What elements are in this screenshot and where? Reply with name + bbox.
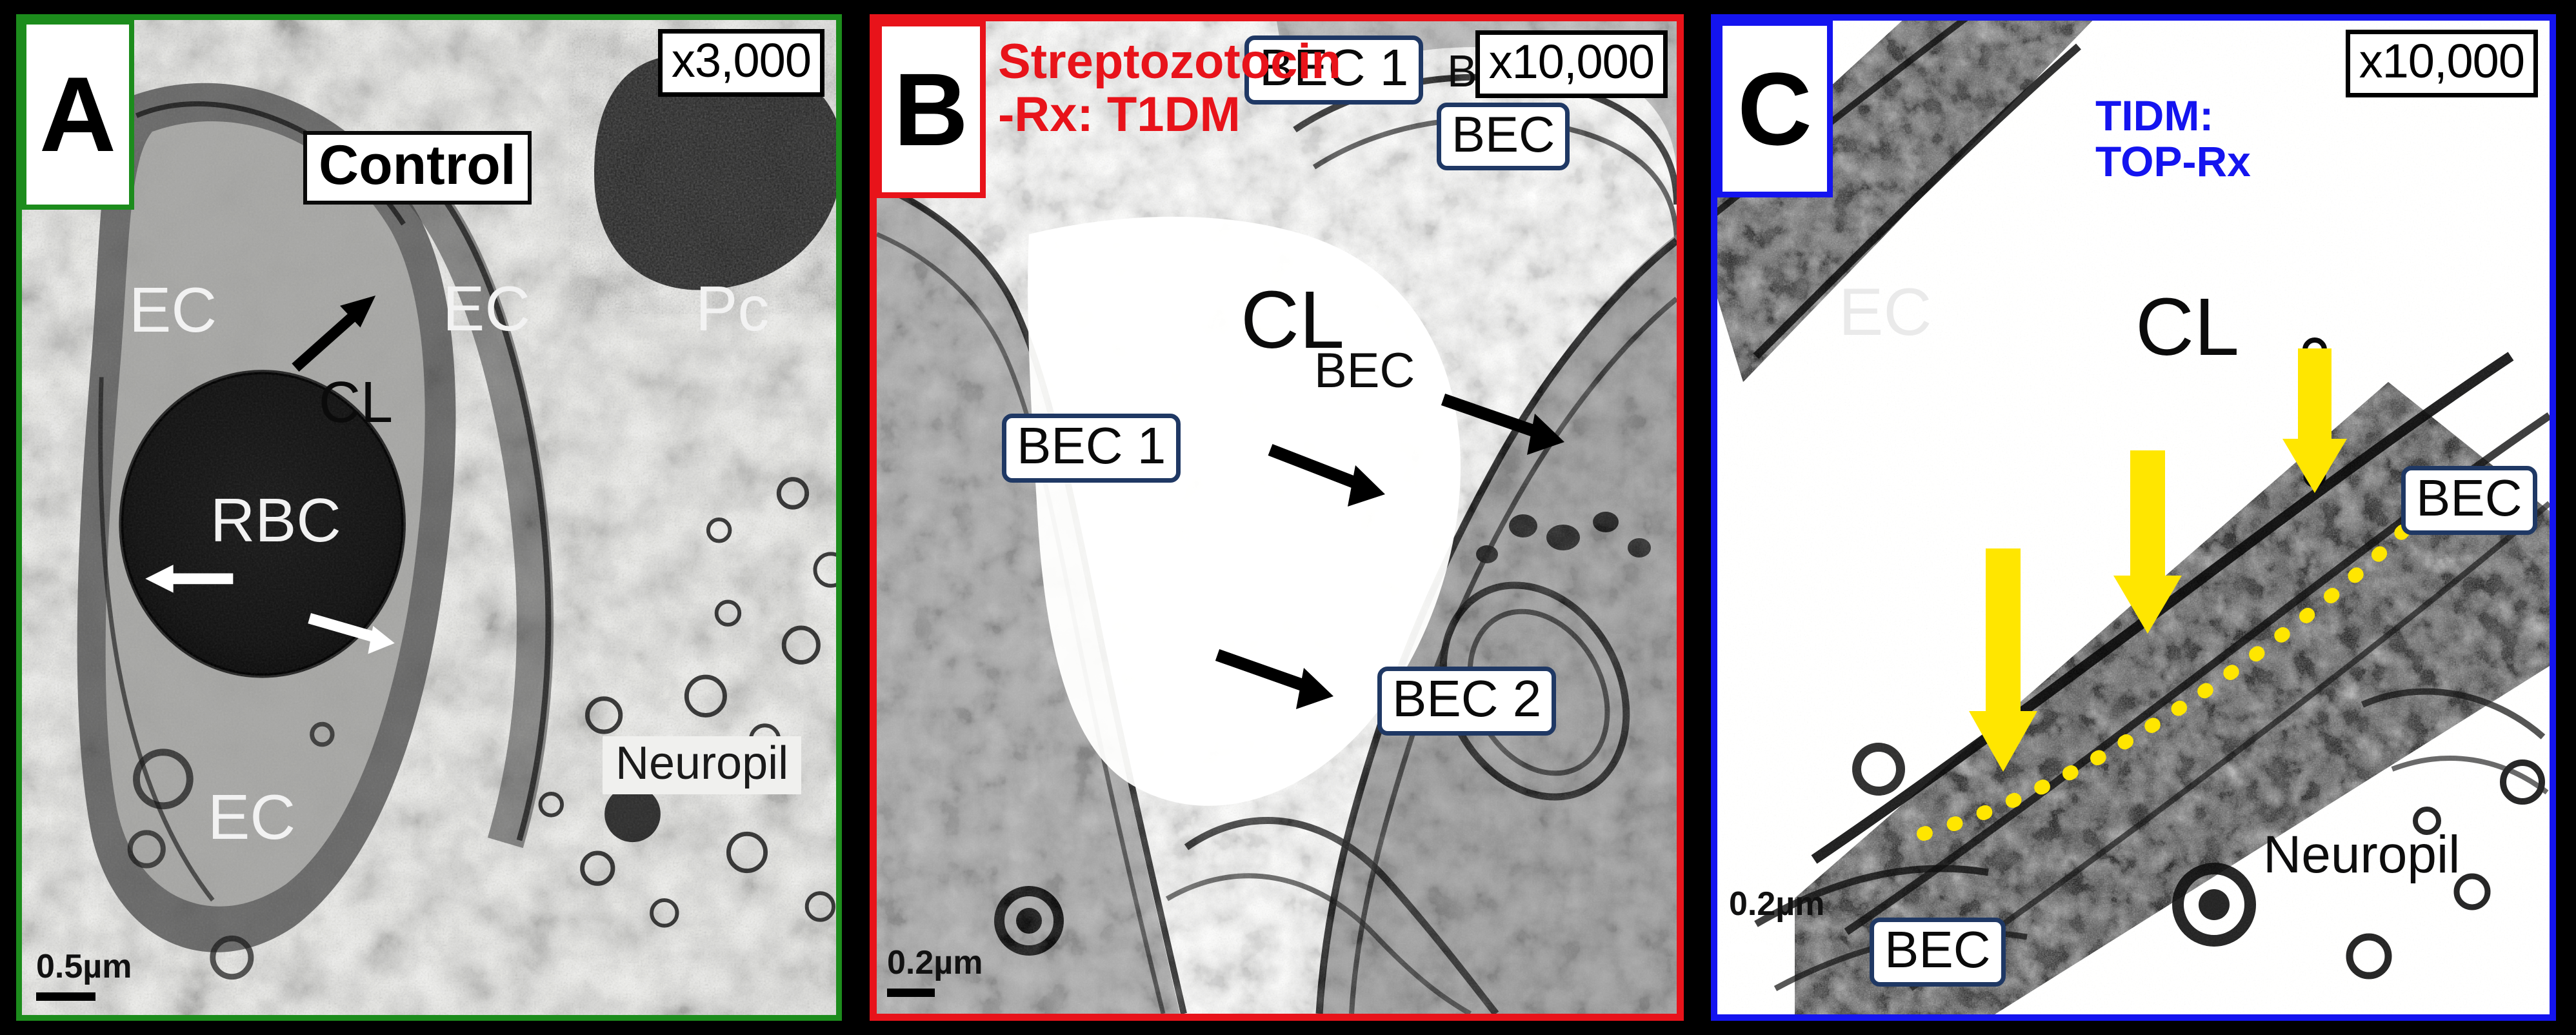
cl-label: CL [2135,286,2239,368]
figure-root: Control EC EC EC Pc CL RBC Neuropil 0.5µ… [0,0,2576,1035]
magnification-badge-b: x10,000 [1475,30,1668,98]
neuropil-label: Neuropil [603,736,801,794]
scale-bar-rule [36,992,95,1001]
panel-c: EC CL BEC BEC Neuropil 0.2µm C TIDM: TOP… [1711,14,2556,1021]
neuropil-label: Neuropil [2263,829,2460,881]
bec2-label: BEC 2 [1377,667,1556,736]
scale-bar-label: 0.2µm [1729,887,1824,921]
bec-label-boxed: BEC [1437,103,1570,170]
scale-bar-label: 0.5µm [36,950,132,983]
panel-a: Control EC EC EC Pc CL RBC Neuropil 0.5µ… [16,14,842,1021]
panel-letter-a: A [22,20,134,210]
bec-label-right: BEC [2401,466,2537,535]
panel-letter-c: C [1717,21,1833,197]
scale-bar-b: 0.2µm [887,946,983,997]
scale-bar-c: 0.2µm [1729,887,1824,952]
panel-b: BEC 1 BEC BEC CL BEC BEC 1 BEC 2 0.2µm B… [870,14,1684,1021]
scale-bar-rule [887,989,935,997]
magnification-badge-a: x3,000 [658,29,824,97]
scale-bar-label: 0.2µm [887,946,983,980]
panel-letter-b: B [877,21,986,198]
bec-label-bottom: BEC [1870,918,2006,987]
treatment-label-b: Streptozotocin -Rx: T1DM [998,35,1341,141]
bec1-label-left: BEC 1 [1002,414,1181,483]
ec-label-mid: EC [443,277,530,340]
scale-bar-a: 0.5µm [36,950,132,1001]
bec-label-lumen: BEC [1314,347,1415,396]
ec-label: EC [1839,279,1932,346]
treatment-label-c: TIDM: TOP-Rx [2095,93,2251,185]
cl-label: CL [319,374,393,432]
rbc-label: RBC [210,490,341,552]
magnification-badge-c: x10,000 [2346,30,2538,97]
ec-label-left: EC [129,278,217,341]
pc-label: Pc [695,277,769,340]
control-label: Control [303,131,532,205]
scale-bar-rule [1729,944,1766,952]
ec-label-bottom: EC [208,785,295,849]
